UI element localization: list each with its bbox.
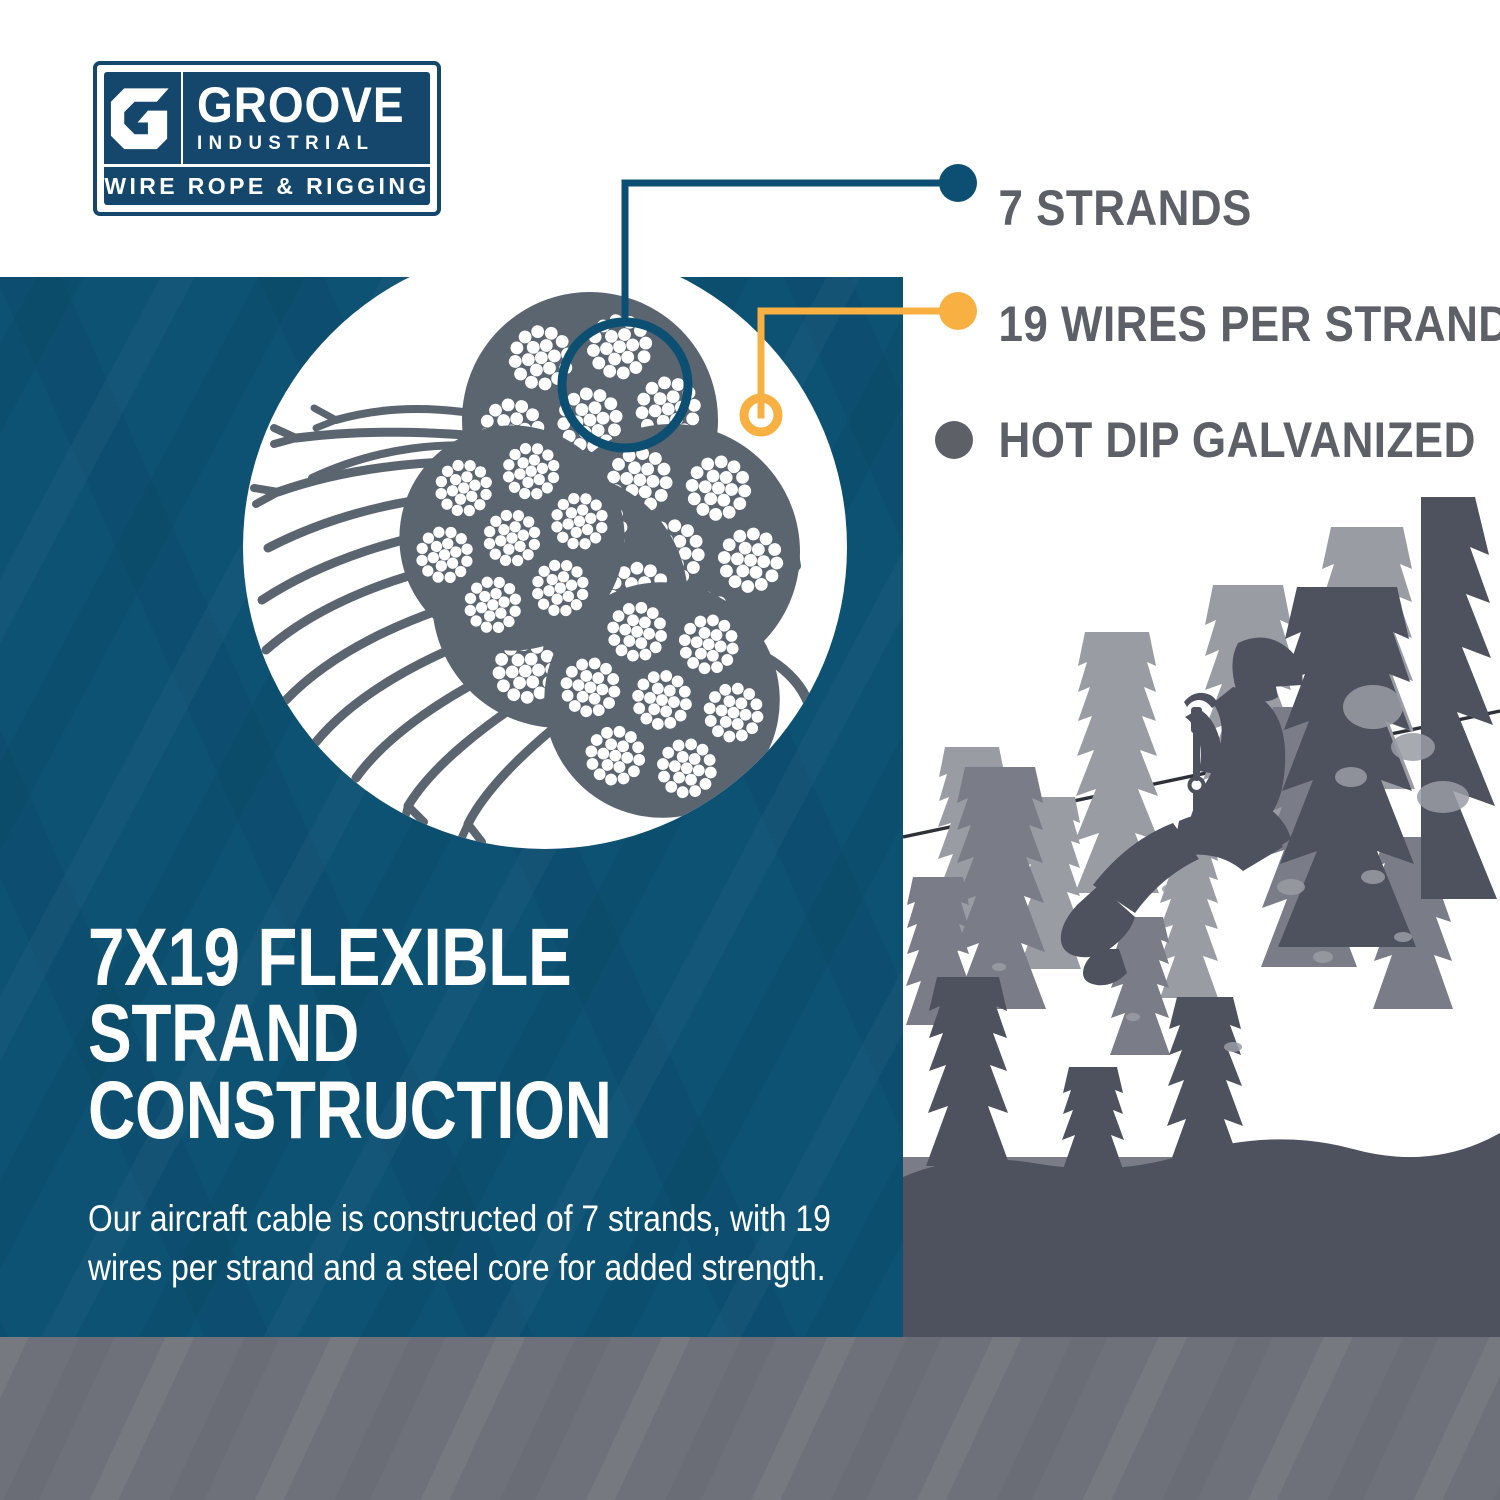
logo-g-mark-icon (104, 72, 183, 164)
floor-band (0, 1337, 1500, 1500)
callout-item-wires: 19 WIRES PER STRAND (935, 266, 1475, 382)
bullet-gray-icon (935, 421, 973, 459)
infographic-canvas: 7 STRANDS 19 WIRES PER STRAND HOT DIP GA… (0, 0, 1500, 1500)
callout-label-galvanized: HOT DIP GALVANIZED (973, 411, 1476, 469)
callout-label-wires: 19 WIRES PER STRAND (973, 295, 1500, 353)
logo-tagline: WIRE ROPE & RIGGING (104, 167, 430, 205)
body-copy: Our aircraft cable is constructed of 7 s… (88, 1149, 862, 1293)
floor-stripe-texture (0, 1337, 1500, 1500)
brand-logo[interactable]: GROOVE INDUSTRIAL WIRE ROPE & RIGGING (93, 61, 441, 216)
callout-list: 7 STRANDS 19 WIRES PER STRAND HOT DIP GA… (935, 150, 1475, 498)
logo-name-secondary: INDUSTRIAL (197, 128, 418, 155)
groove-g-icon (105, 81, 179, 155)
callout-item-strands: 7 STRANDS (935, 150, 1475, 266)
logo-inner-plate: GROOVE INDUSTRIAL WIRE ROPE & RIGGING (104, 72, 430, 205)
logo-name-primary: GROOVE (197, 82, 404, 128)
callout-label-strands: 7 STRANDS (973, 179, 1252, 237)
logo-wordmark: GROOVE INDUSTRIAL (183, 72, 430, 164)
page-title: 7X19 FLEXIBLE STRAND CONSTRUCTION (88, 920, 712, 1149)
callout-item-galvanized: HOT DIP GALVANIZED (935, 382, 1475, 498)
headline-block: 7X19 FLEXIBLE STRAND CONSTRUCTION Our ai… (88, 920, 868, 1292)
illustration-disc (243, 245, 847, 849)
logo-top-row: GROOVE INDUSTRIAL (104, 72, 430, 164)
